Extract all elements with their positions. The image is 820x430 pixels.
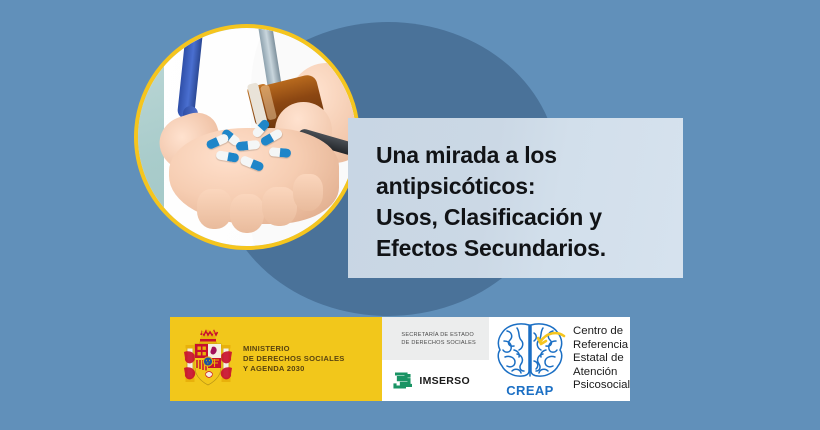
secretaria-line-2: DE DERECHOS SOCIALES bbox=[401, 339, 476, 347]
photo-finger-3 bbox=[262, 187, 297, 226]
creap-acronym: CREAP bbox=[493, 383, 567, 398]
logo-bar: MINISTERIO DE DERECHOS SOCIALES Y AGENDA… bbox=[170, 317, 630, 401]
creap-full-name: Centro de Referencia Estatal de Atención… bbox=[573, 325, 630, 393]
poster-canvas: Manos de profesional sanitario con bata … bbox=[0, 0, 820, 430]
spain-coat-of-arms-icon bbox=[182, 328, 234, 390]
ministry-line-2: DE DERECHOS SOCIALES bbox=[243, 354, 345, 364]
imserso-wordmark: IMSERSO bbox=[419, 375, 470, 387]
imserso-logo-block: SECRETARÍA DE ESTADO DE DERECHOS SOCIALE… bbox=[382, 317, 489, 401]
photo-finger-2 bbox=[230, 194, 265, 233]
secretaria-estado-text: SECRETARÍA DE ESTADO DE DERECHOS SOCIALE… bbox=[395, 331, 476, 347]
photo-finger-1 bbox=[197, 189, 232, 228]
page-title: Una mirada a los antipsicóticos: Usos, C… bbox=[376, 140, 673, 264]
photo-finger-4 bbox=[293, 174, 324, 211]
brain-outline-icon bbox=[493, 319, 567, 385]
photo-image bbox=[138, 28, 356, 246]
ministry-line-1: MINISTERIO bbox=[243, 344, 345, 354]
imserso-logo-icon bbox=[392, 370, 413, 391]
creap-logo-block: CREAP Centro de Referencia Estatal de At… bbox=[489, 317, 630, 401]
secretaria-line-1: SECRETARÍA DE ESTADO bbox=[401, 331, 476, 339]
capsule-icon bbox=[268, 147, 291, 158]
ministry-text: MINISTERIO DE DERECHOS SOCIALES Y AGENDA… bbox=[243, 344, 345, 375]
ministry-line-3: Y AGENDA 2030 bbox=[243, 364, 345, 374]
creap-brain-group: CREAP bbox=[493, 319, 567, 399]
secretaria-estado-header: SECRETARÍA DE ESTADO DE DERECHOS SOCIALE… bbox=[382, 317, 489, 360]
imserso-row: IMSERSO bbox=[382, 360, 489, 401]
ministry-logo-block: MINISTERIO DE DERECHOS SOCIALES Y AGENDA… bbox=[170, 317, 382, 401]
photo-circle: Manos de profesional sanitario con bata … bbox=[134, 24, 360, 250]
title-panel: Una mirada a los antipsicóticos: Usos, C… bbox=[348, 118, 683, 278]
